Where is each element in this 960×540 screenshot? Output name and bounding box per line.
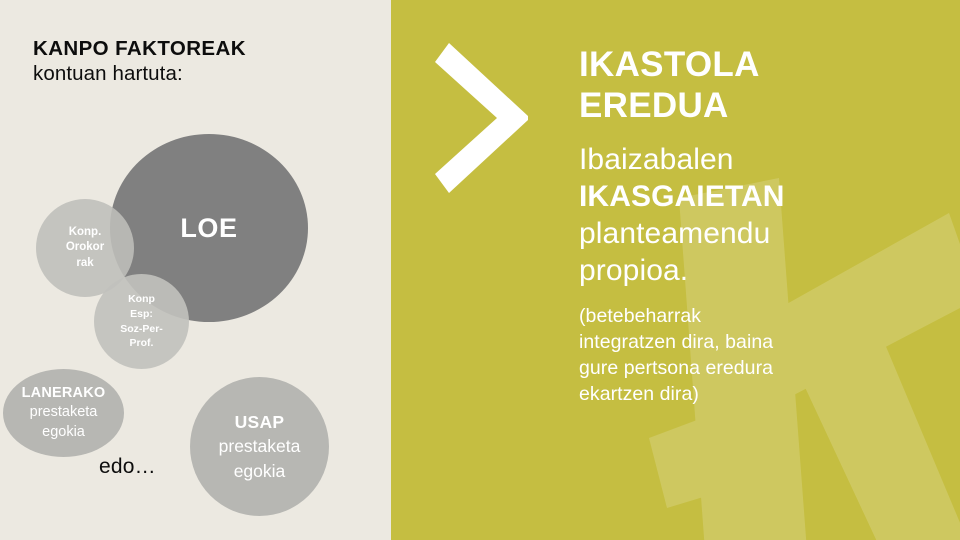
right-body-line-3: planteamendu [579,215,909,252]
bubble-konp-orokorrak-line-1: Konp. [69,225,102,241]
right-body-line-1: Ibaizabalen [579,141,909,178]
bubble-konp-esp-line-4: Prof. [130,336,154,351]
right-title-line-2: EREDUA [579,85,909,126]
bubble-konp-esp-line-3: Soz-Per- [120,322,163,337]
bubble-konp-esp: Konp Esp: Soz-Per- Prof. [94,274,189,369]
bubble-usap-line-1: prestaketa [219,434,301,458]
bubble-usap: USAP prestaketa egokia [190,377,329,516]
left-panel: KANPO FAKTOREAK kontuan hartuta: LOE Kon… [0,0,391,540]
right-note-line-2: integratzen dira, baina [579,330,909,356]
edo-label: edo… [99,455,156,479]
right-panel-body: Ibaizabalen IKASGAIETAN planteamendu pro… [579,141,909,290]
right-title-line-1: IKASTOLA [579,44,909,85]
bubble-usap-title: USAP [235,410,285,434]
bubble-konp-esp-line-2: Esp: [130,307,153,322]
right-panel-note: (betebeharrak integratzen dira, baina gu… [579,304,909,408]
bubble-lanerako-title: LANERAKO [22,384,106,403]
right-note-line-1: (betebeharrak [579,304,909,330]
right-body-line-2: IKASGAIETAN [579,178,909,215]
heading-line-secondary: kontuan hartuta: [33,63,363,86]
bubble-lanerako-line-2: egokia [42,423,85,442]
right-body-line-4: propioa. [579,252,909,289]
bubble-loe-label: LOE [180,213,237,244]
chevron-right-icon [435,43,528,193]
right-panel-title: IKASTOLA EREDUA [579,44,909,127]
bubble-lanerako-line-1: prestaketa [30,403,98,422]
heading-line-primary: KANPO FAKTOREAK [33,38,363,61]
bubble-lanerako: LANERAKO prestaketa egokia [3,369,124,457]
right-note-line-4: ekartzen dira) [579,382,909,408]
right-text-block: IKASTOLA EREDUA Ibaizabalen IKASGAIETAN … [579,44,909,408]
bubble-konp-orokorrak-line-2: Orokor [66,240,104,256]
bubble-konp-esp-line-1: Konp [128,292,155,307]
page-title: KANPO FAKTOREAK kontuan hartuta: [33,38,363,86]
right-panel: IKASTOLA EREDUA Ibaizabalen IKASGAIETAN … [391,0,960,540]
right-note-line-3: gure pertsona eredura [579,356,909,382]
slide-canvas: KANPO FAKTOREAK kontuan hartuta: LOE Kon… [0,0,960,540]
bubble-konp-orokorrak-line-3: rak [76,256,93,272]
bubble-usap-line-2: egokia [234,459,286,483]
